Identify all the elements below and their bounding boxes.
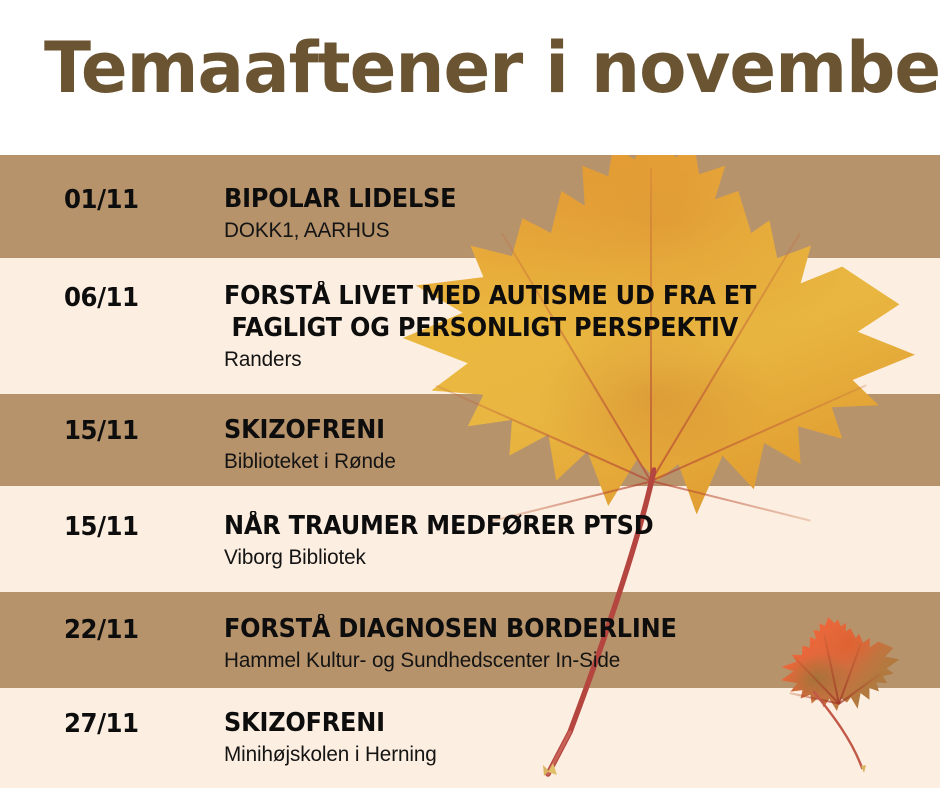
list-item[interactable]: 27/11 SKIZOFRENI Minihøjskolen i Herning (0, 688, 940, 788)
list-item[interactable]: 15/11 SKIZOFRENI Biblioteket i Rønde (0, 394, 940, 486)
event-title-line-1: FORSTÅ LIVET MED AUTISME UD FRA ET (224, 281, 756, 311)
event-date: 15/11 (64, 512, 139, 542)
list-item[interactable]: 01/11 BIPOLAR LIDELSE DOKK1, AARHUS (0, 155, 940, 258)
event-venue: Hammel Kultur- og Sundhedscenter In-Side (224, 647, 919, 674)
event-details: FORSTÅ DIAGNOSEN BORDERLINE Hammel Kultu… (224, 613, 930, 674)
event-details: BIPOLAR LIDELSE DOKK1, AARHUS (224, 183, 930, 244)
event-date: 06/11 (64, 283, 139, 313)
event-date: 01/11 (64, 185, 139, 215)
event-title: FORSTÅ LIVET MED AUTISME UD FRA ETFAGLIG… (224, 280, 888, 344)
list-item[interactable]: 22/11 FORSTÅ DIAGNOSEN BORDERLINE Hammel… (0, 592, 940, 688)
event-venue: DOKK1, AARHUS (224, 217, 919, 244)
event-date: 27/11 (64, 709, 139, 739)
event-details: FORSTÅ LIVET MED AUTISME UD FRA ETFAGLIG… (224, 280, 930, 373)
event-title: SKIZOFRENI (224, 707, 888, 739)
event-date: 15/11 (64, 416, 139, 446)
event-title: FORSTÅ DIAGNOSEN BORDERLINE (224, 613, 888, 645)
event-venue: Minihøjskolen i Herning (224, 741, 919, 768)
event-date: 22/11 (64, 615, 139, 645)
event-title: SKIZOFRENI (224, 414, 888, 446)
event-venue: Randers (224, 346, 919, 373)
event-venue: Viborg Bibliotek (224, 544, 919, 571)
list-item[interactable]: 15/11 NÅR TRAUMER MEDFØRER PTSD Viborg B… (0, 486, 940, 592)
event-details: SKIZOFRENI Minihøjskolen i Herning (224, 707, 930, 768)
list-item[interactable]: 06/11 FORSTÅ LIVET MED AUTISME UD FRA ET… (0, 258, 940, 394)
page-title: Temaaftener i november (44, 24, 891, 112)
event-poster: Temaaftener i november 01/11 BIPOLAR LID… (0, 0, 940, 788)
event-venue: Biblioteket i Rønde (224, 448, 919, 475)
poster-header: Temaaftener i november (0, 0, 940, 155)
event-title: BIPOLAR LIDELSE (224, 183, 888, 215)
event-title-line-2: FAGLIGT OG PERSONLIGT PERSPEKTIV (224, 312, 888, 344)
event-details: NÅR TRAUMER MEDFØRER PTSD Viborg Bibliot… (224, 510, 930, 571)
event-details: SKIZOFRENI Biblioteket i Rønde (224, 414, 930, 475)
event-title: NÅR TRAUMER MEDFØRER PTSD (224, 510, 888, 542)
